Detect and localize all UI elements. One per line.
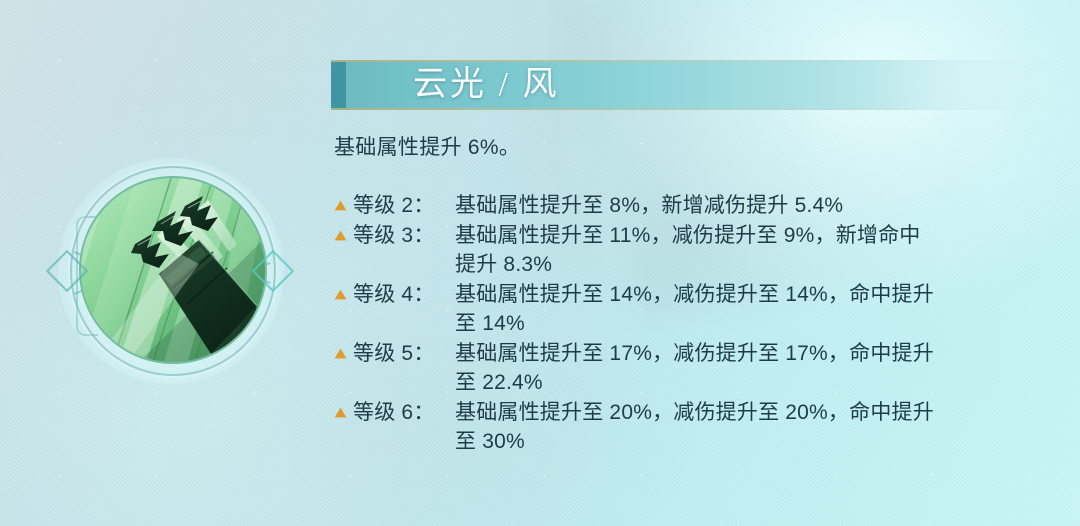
level-list: 等级 2：基础属性提升至 8%，新增减伤提升 5.4%等级 3：基础属性提升至 … xyxy=(334,191,1034,457)
icon-inner-ring xyxy=(79,176,267,364)
level-label: 等级 2： xyxy=(353,191,455,221)
level-description-line: 至 22.4% xyxy=(455,368,1034,398)
title-bar-accent-cap xyxy=(331,62,346,108)
skill-description: 基础属性提升 6%。 等级 2：基础属性提升至 8%，新增减伤提升 5.4%等级… xyxy=(334,133,1034,457)
level-description: 基础属性提升至 17%，减伤提升至 17%，命中提升至 22.4% xyxy=(455,339,1034,398)
level-row: 等级 2：基础属性提升至 8%，新增减伤提升 5.4% xyxy=(334,191,1034,221)
level-label: 等级 3： xyxy=(353,221,455,251)
level-label: 等级 6： xyxy=(353,398,455,428)
level-label: 等级 5： xyxy=(353,339,455,369)
level-row: 等级 3：基础属性提升至 11%，减伤提升至 9%，新增命中提升 8.3% xyxy=(334,221,1034,280)
skill-info-panel: 云光 / 风 基础属性提升 6%。 等级 2：基础属性提升至 8%，新增减伤提升… xyxy=(0,0,1080,526)
level-description: 基础属性提升至 11%，减伤提升至 9%，新增命中提升 8.3% xyxy=(455,221,1034,280)
level-description-line: 至 30% xyxy=(455,427,1034,457)
page-title: 云光 / 风 xyxy=(413,60,559,110)
skill-icon[interactable] xyxy=(52,152,290,390)
level-label: 等级 4： xyxy=(353,280,455,310)
level-description-line: 基础属性提升至 14%，减伤提升至 14%，命中提升 xyxy=(455,280,1034,310)
level-row: 等级 5：基础属性提升至 17%，减伤提升至 17%，命中提升至 22.4% xyxy=(334,339,1034,398)
title-bar: 云光 / 风 xyxy=(331,60,1073,110)
triangle-up-icon xyxy=(334,221,353,241)
level-description-line: 基础属性提升至 8%，新增减伤提升 5.4% xyxy=(455,191,1034,221)
level-description-line: 基础属性提升至 20%，减伤提升至 20%，命中提升 xyxy=(455,398,1034,428)
level-row: 等级 4：基础属性提升至 14%，减伤提升至 14%，命中提升至 14% xyxy=(334,280,1034,339)
level-description-line: 提升 8.3% xyxy=(455,250,1034,280)
arrow-quiver-icon xyxy=(81,178,265,362)
level-row: 等级 6：基础属性提升至 20%，减伤提升至 20%，命中提升至 30% xyxy=(334,398,1034,457)
level-description-line: 基础属性提升至 17%，减伤提升至 17%，命中提升 xyxy=(455,339,1034,369)
level-description: 基础属性提升至 20%，减伤提升至 20%，命中提升至 30% xyxy=(455,398,1034,457)
level-description-line: 至 14% xyxy=(455,309,1034,339)
level-description: 基础属性提升至 14%，减伤提升至 14%，命中提升至 14% xyxy=(455,280,1034,339)
level-description-line: 基础属性提升至 11%，减伤提升至 9%，新增命中 xyxy=(455,221,1034,251)
skill-summary: 基础属性提升 6%。 xyxy=(334,133,1034,163)
triangle-up-icon xyxy=(334,280,353,300)
triangle-up-icon xyxy=(334,339,353,359)
triangle-up-icon xyxy=(334,191,353,211)
triangle-up-icon xyxy=(334,398,353,418)
level-description: 基础属性提升至 8%，新增减伤提升 5.4% xyxy=(455,191,1034,221)
